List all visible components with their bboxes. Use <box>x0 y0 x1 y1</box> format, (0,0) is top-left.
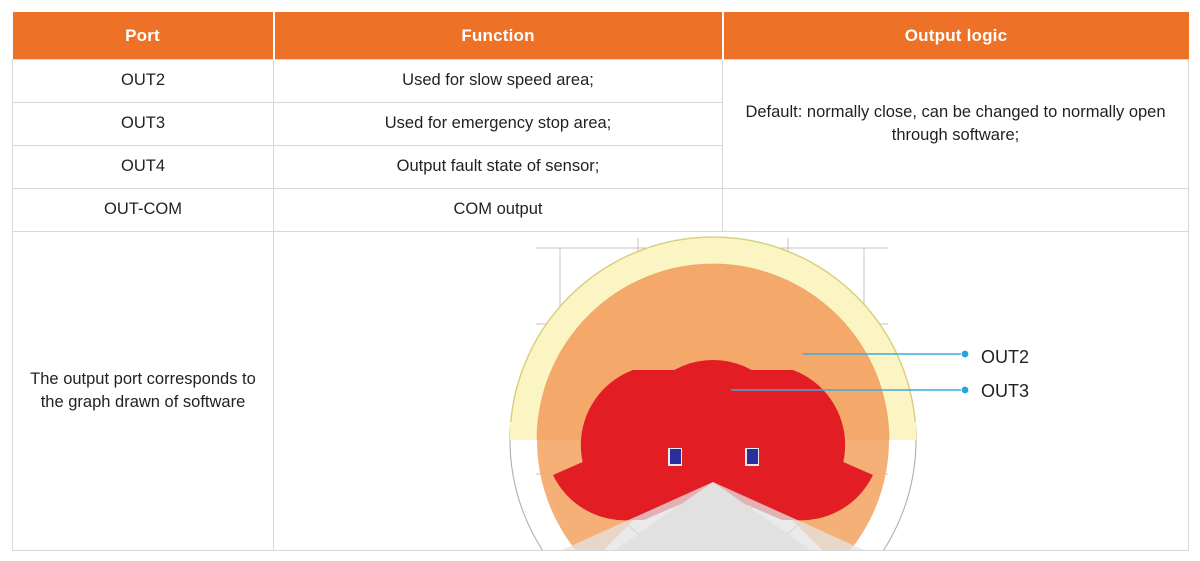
table-row: OUT-COM COM output <box>13 189 1189 232</box>
leader-dot-out3 <box>962 387 969 394</box>
table-row-graph: The output port corresponds to the graph… <box>13 232 1189 551</box>
table-header-row: Port Function Output logic <box>13 12 1189 60</box>
detection-zone-diagram: OUT2 OUT3 <box>284 232 1178 550</box>
detection-zone-svg <box>284 232 1178 550</box>
column-header-output-logic: Output logic <box>723 12 1189 60</box>
cell-output-logic-merged: Default: normally close, can be changed … <box>723 60 1189 189</box>
cell-note-graph-correspondence: The output port corresponds to the graph… <box>13 232 274 551</box>
leader-dots <box>962 351 969 394</box>
cell-function-out4: Output fault state of sensor; <box>274 146 723 189</box>
column-header-port: Port <box>13 12 274 60</box>
cell-function-out3: Used for emergency stop area; <box>274 103 723 146</box>
cell-function-out2: Used for slow speed area; <box>274 60 723 103</box>
diagram-label-out2: OUT2 <box>981 345 1029 371</box>
table-row: OUT2 Used for slow speed area; Default: … <box>13 60 1189 103</box>
cell-port-out4: OUT4 <box>13 146 274 189</box>
cell-function-out-com: COM output <box>274 189 723 232</box>
leader-dot-out2 <box>962 351 969 358</box>
sensor-marker-right-icon <box>747 449 758 464</box>
cell-detection-zone-figure: OUT2 OUT3 <box>274 232 1189 551</box>
diagram-label-out3: OUT3 <box>981 379 1029 405</box>
cell-port-out-com: OUT-COM <box>13 189 274 232</box>
output-port-spec-table: Port Function Output logic OUT2 Used for… <box>12 12 1189 551</box>
cell-port-out2: OUT2 <box>13 60 274 103</box>
column-header-function: Function <box>274 12 723 60</box>
cell-port-out3: OUT3 <box>13 103 274 146</box>
sensor-marker-left-icon <box>670 449 681 464</box>
cell-output-logic-empty <box>723 189 1189 232</box>
spec-table-figure: Port Function Output logic OUT2 Used for… <box>0 0 1200 561</box>
